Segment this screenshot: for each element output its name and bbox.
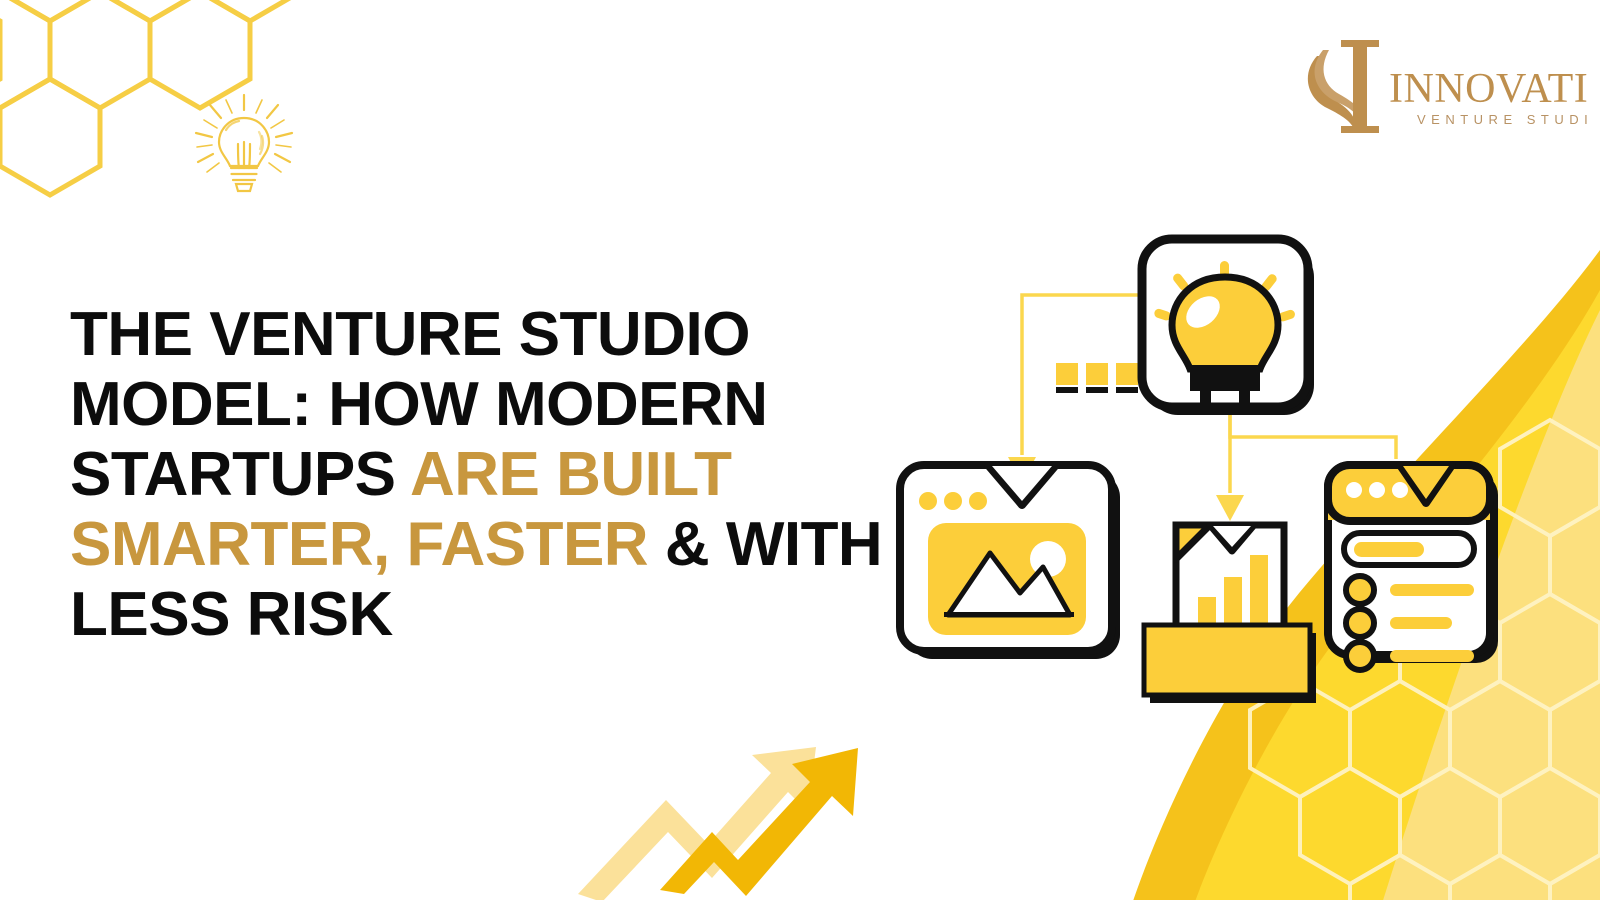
workflow-node-idea[interactable] xyxy=(1142,239,1314,415)
workflow-node-product[interactable] xyxy=(1328,465,1498,670)
lightbulb-sketch-icon xyxy=(188,92,300,206)
poster-canvas: INNOVATIONS VENTURE STUDIO THE VENTURE S… xyxy=(0,0,1600,900)
workflow-illustration xyxy=(880,215,1500,705)
logo-mark-icon xyxy=(1308,40,1379,133)
image-placeholder-icon xyxy=(928,523,1086,635)
page-title: THE VENTURE STUDIO MODEL: HOW MODERN STA… xyxy=(70,300,890,650)
window-dots-icon xyxy=(919,492,987,510)
growth-arrow-icon xyxy=(566,716,896,900)
workflow-node-data[interactable] xyxy=(1144,525,1316,703)
workflow-node-design[interactable] xyxy=(900,465,1120,659)
brand-logo[interactable]: INNOVATIONS VENTURE STUDIO xyxy=(1297,28,1589,134)
window-dots-icon xyxy=(1346,482,1408,498)
three-squares-icon xyxy=(1056,363,1138,393)
search-field-icon xyxy=(1344,533,1474,565)
logo-tagline: VENTURE STUDIO xyxy=(1417,112,1589,127)
logo-name: INNOVATIONS xyxy=(1389,66,1589,112)
